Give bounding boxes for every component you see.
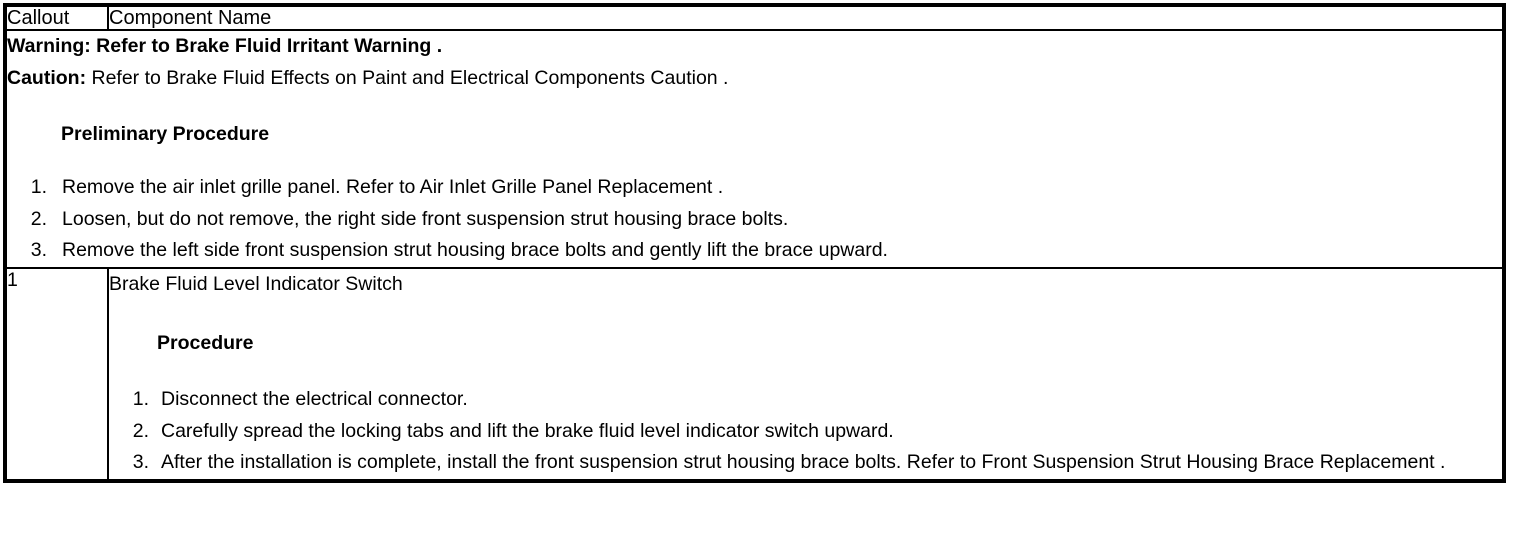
document-page: Callout Component Name Warning: Refer to… xyxy=(0,0,1520,552)
warning-notice: Warning: Refer to Brake Fluid Irritant W… xyxy=(7,31,1502,63)
step-number: 3. xyxy=(7,235,47,267)
list-item: 1.Remove the air inlet grille panel. Ref… xyxy=(7,172,1502,204)
step-text: Carefully spread the locking tabs and li… xyxy=(161,420,894,442)
procedure-heading: Procedure xyxy=(157,328,1502,360)
component-name: Brake Fluid Level Indicator Switch xyxy=(109,269,1502,301)
list-item: 2.Loosen, but do not remove, the right s… xyxy=(7,204,1502,236)
step-number: 1. xyxy=(7,172,47,204)
step-number: 1. xyxy=(125,384,149,416)
list-item: 1.Disconnect the electrical connector. xyxy=(109,384,1502,416)
callout-number: 1 xyxy=(5,268,108,481)
procedure-step-list: 1.Disconnect the electrical connector. 2… xyxy=(109,384,1502,479)
caution-label: Caution: xyxy=(7,67,86,89)
warning-text: Refer to Brake Fluid Irritant Warning . xyxy=(91,35,442,57)
component-detail-cell: Brake Fluid Level Indicator Switch Proce… xyxy=(108,268,1504,481)
table-row: 1 Brake Fluid Level Indicator Switch Pro… xyxy=(5,268,1504,481)
caution-notice: Caution: Refer to Brake Fluid Effects on… xyxy=(7,63,1502,95)
step-text: After the installation is complete, inst… xyxy=(161,451,1445,473)
step-text: Remove the air inlet grille panel. Refer… xyxy=(62,176,723,198)
list-item: 3.After the installation is complete, in… xyxy=(109,447,1502,479)
column-header-component-name: Component Name xyxy=(108,5,1504,30)
preliminary-step-list: 1.Remove the air inlet grille panel. Ref… xyxy=(7,172,1502,267)
list-item: 3.Remove the left side front suspension … xyxy=(7,235,1502,267)
warning-label: Warning: xyxy=(7,35,91,57)
preliminary-procedure-cell: Warning: Refer to Brake Fluid Irritant W… xyxy=(5,30,1504,267)
step-text: Disconnect the electrical connector. xyxy=(161,388,468,410)
service-procedure-table: Callout Component Name Warning: Refer to… xyxy=(3,3,1506,483)
step-number: 2. xyxy=(7,204,47,236)
list-item: 2.Carefully spread the locking tabs and … xyxy=(109,416,1502,448)
preliminary-procedure-heading: Preliminary Procedure xyxy=(61,119,1502,151)
step-text: Loosen, but do not remove, the right sid… xyxy=(62,208,788,230)
column-header-callout: Callout xyxy=(5,5,108,30)
step-number: 3. xyxy=(125,447,149,479)
step-number: 2. xyxy=(125,416,149,448)
table-header-row: Callout Component Name xyxy=(5,5,1504,30)
preliminary-procedure-row: Warning: Refer to Brake Fluid Irritant W… xyxy=(5,30,1504,267)
caution-text: Refer to Brake Fluid Effects on Paint an… xyxy=(86,67,728,89)
step-text: Remove the left side front suspension st… xyxy=(62,239,888,261)
